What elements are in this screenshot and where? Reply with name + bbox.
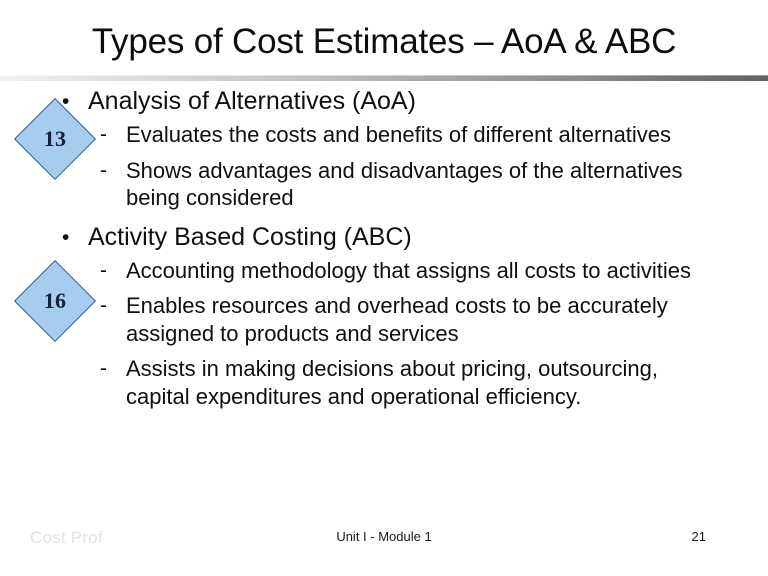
spacer — [0, 212, 768, 222]
spacer — [0, 149, 768, 157]
bullet-level1-aoa: • Analysis of Alternatives (AoA) — [0, 86, 768, 117]
bullet-level2-abc-1: - Accounting methodology that assigns al… — [0, 257, 768, 285]
bullet-level2-abc-3: - Assists in making decisions about pric… — [0, 355, 768, 410]
bullet-level1-abc-label: Activity Based Costing (ABC) — [88, 222, 768, 253]
bullet-level2-abc-2-label: Enables resources and overhead costs to … — [126, 292, 708, 347]
bullet-level2-aoa-2: - Shows advantages and disadvantages of … — [0, 157, 768, 212]
title-zone: Types of Cost Estimates – AoA & ABC — [0, 12, 768, 70]
spacer — [0, 284, 768, 292]
bullet-level2-abc-3-label: Assists in making decisions about pricin… — [126, 355, 708, 410]
bullet-level2-abc-2: - Enables resources and overhead costs t… — [0, 292, 768, 347]
dash-bullet-icon: - — [100, 355, 126, 383]
dash-bullet-icon: - — [100, 292, 126, 320]
dash-bullet-icon: - — [100, 257, 126, 285]
slide-footer: Cost Prof Unit I - Module 1 21 — [0, 524, 768, 554]
bullet-level1-aoa-label: Analysis of Alternatives (AoA) — [88, 86, 768, 117]
bullet-level2-aoa-2-label: Shows advantages and disadvantages of th… — [126, 157, 708, 212]
dash-bullet-icon: - — [100, 121, 126, 149]
body-content: • Analysis of Alternatives (AoA) - Evalu… — [0, 86, 768, 506]
page-title: Types of Cost Estimates – AoA & ABC — [92, 24, 676, 59]
footer-center-text: Unit I - Module 1 — [0, 529, 768, 544]
dash-bullet-icon: - — [100, 157, 126, 185]
bullet-level2-aoa-1: - Evaluates the costs and benefits of di… — [0, 121, 768, 149]
title-divider-rule — [0, 75, 768, 81]
bullet-level2-aoa-1-label: Evaluates the costs and benefits of diff… — [126, 121, 708, 149]
spacer — [0, 347, 768, 355]
slide: Types of Cost Estimates – AoA & ABC 13 1… — [0, 0, 768, 576]
slide-page-number: 21 — [692, 529, 706, 544]
bullet-level2-abc-1-label: Accounting methodology that assigns all … — [126, 257, 708, 285]
bullet-level1-abc: • Activity Based Costing (ABC) — [0, 222, 768, 253]
bullet-dot-icon: • — [62, 86, 88, 117]
bullet-dot-icon: • — [62, 222, 88, 253]
